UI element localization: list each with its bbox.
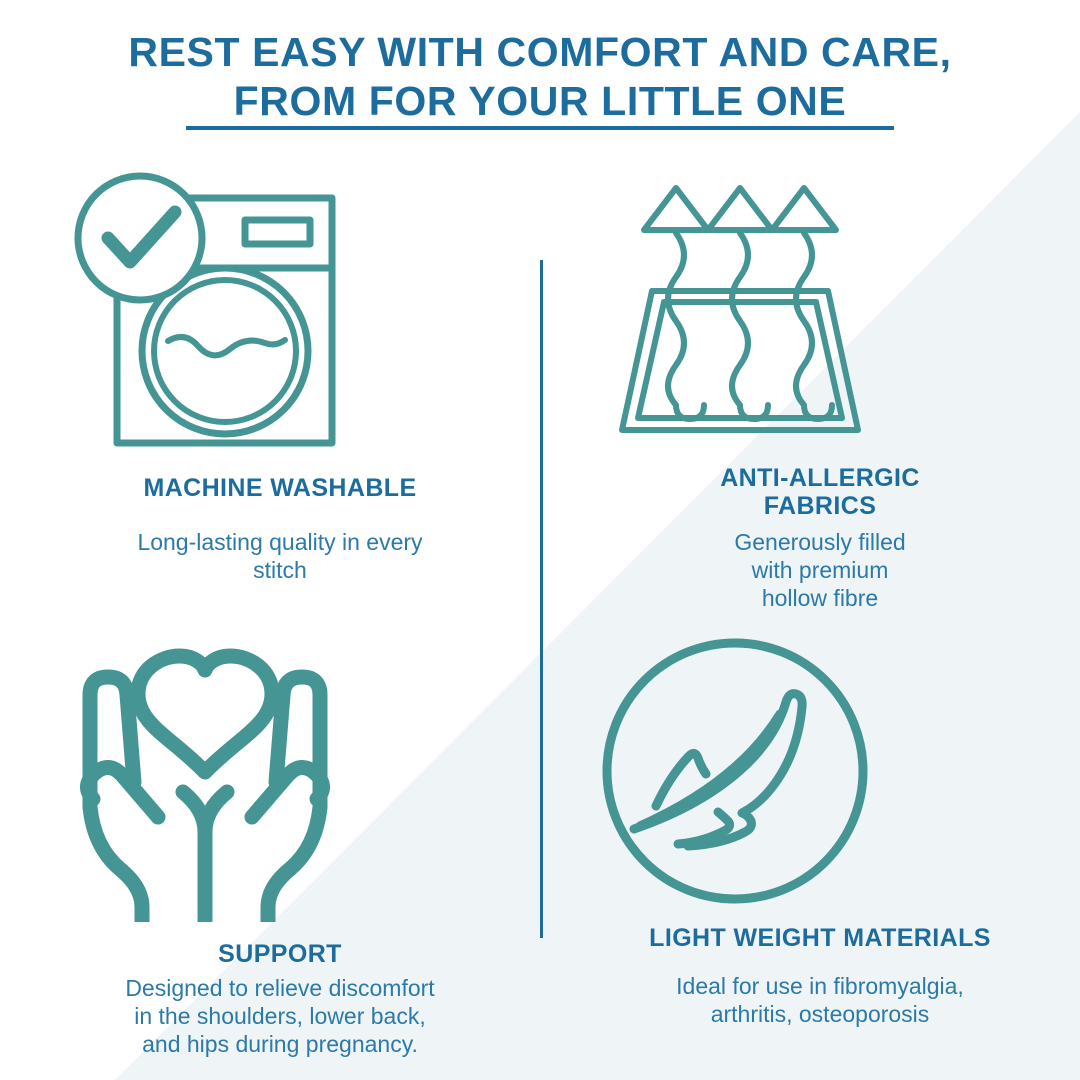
title-underline-rule xyxy=(186,126,894,130)
feature-anti-allergic: ANTI-ALLERGIC FABRICS Generously filled … xyxy=(600,178,1040,612)
feature-title: LIGHT WEIGHT MATERIALS xyxy=(600,924,1040,952)
feature-support: SUPPORT Designed to relieve discomfort i… xyxy=(60,632,500,1058)
feature-title: SUPPORT xyxy=(60,940,500,968)
page-title-line-1: REST EASY WITH COMFORT AND CARE, xyxy=(0,28,1080,77)
infographic-content: REST EASY WITH COMFORT AND CARE, FROM FO… xyxy=(0,0,1080,1080)
column-divider xyxy=(540,260,543,938)
feature-machine-washable: MACHINE WASHABLE Long-lasting quality in… xyxy=(60,168,500,584)
page-title-line-2: FROM FOR YOUR LITTLE ONE xyxy=(0,77,1080,126)
washing-machine-check-icon xyxy=(60,168,500,458)
feature-title: ANTI-ALLERGIC FABRICS xyxy=(600,464,1040,520)
feature-title: MACHINE WASHABLE xyxy=(60,474,500,502)
infographic-canvas: REST EASY WITH COMFORT AND CARE, FROM FO… xyxy=(0,0,1080,1080)
feature-description: Generously filled with premium hollow fi… xyxy=(600,528,1040,612)
breathable-fabric-arrows-icon xyxy=(600,178,1040,448)
feather-in-circle-icon xyxy=(600,636,1040,906)
page-title: REST EASY WITH COMFORT AND CARE, FROM FO… xyxy=(0,28,1080,126)
hands-holding-heart-icon xyxy=(60,632,500,922)
feature-description: Designed to relieve discomfort in the sh… xyxy=(60,974,500,1058)
feature-description: Long-lasting quality in every stitch xyxy=(60,528,500,584)
feature-light-weight: LIGHT WEIGHT MATERIALS Ideal for use in … xyxy=(600,636,1040,1028)
feature-description: Ideal for use in fibromyalgia, arthritis… xyxy=(600,972,1040,1028)
